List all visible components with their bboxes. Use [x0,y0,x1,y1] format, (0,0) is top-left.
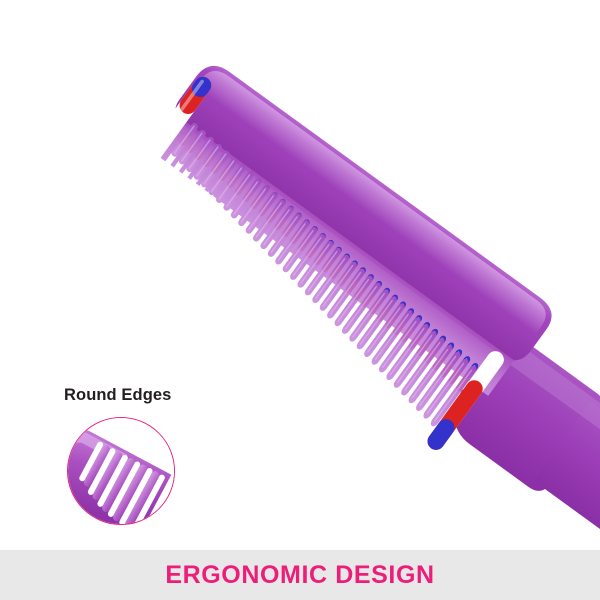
magnifier-circle [67,417,175,525]
callout-label: Round Edges [64,386,171,405]
banner-text: ERGONOMIC DESIGN [165,561,434,590]
feature-banner: ERGONOMIC DESIGN [0,550,600,600]
magnified-comb-corner [68,418,174,524]
round-edges-callout: Round Edges [58,386,268,536]
product-infographic: Round Edges [0,0,600,600]
